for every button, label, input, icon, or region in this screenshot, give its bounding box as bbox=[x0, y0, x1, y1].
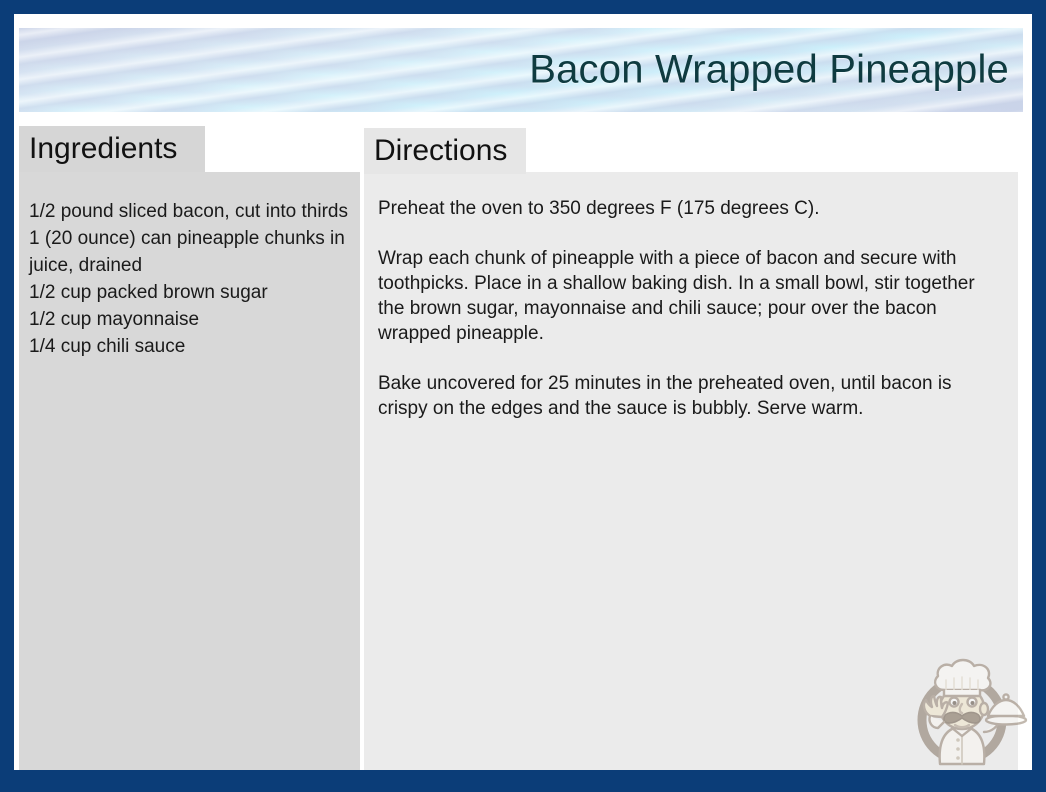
directions-heading: Directions bbox=[374, 134, 507, 168]
list-item: 1/4 cup chili sauce bbox=[29, 333, 349, 360]
recipe-slide: Bacon Wrapped Pineapple bbox=[0, 0, 1046, 792]
ingredients-list: 1/2 pound sliced bacon, cut into thirds … bbox=[29, 198, 349, 360]
ingredients-heading: Ingredients bbox=[29, 132, 177, 166]
slide-content-area: Bacon Wrapped Pineapple bbox=[14, 14, 1032, 770]
list-item: 1/2 cup mayonnaise bbox=[29, 306, 349, 333]
ingredients-panel: Ingredients 1/2 pound sliced bacon, cut … bbox=[19, 126, 360, 770]
ingredients-heading-bar: Ingredients bbox=[19, 126, 205, 172]
list-item: 1/2 pound sliced bacon, cut into thirds bbox=[29, 198, 349, 225]
page-title: Bacon Wrapped Pineapple bbox=[529, 48, 1009, 93]
directions-paragraph: Bake uncovered for 25 minutes in the pre… bbox=[378, 371, 1006, 421]
directions-heading-bar: Directions bbox=[364, 128, 526, 174]
directions-paragraph: Wrap each chunk of pineapple with a piec… bbox=[378, 246, 1006, 346]
directions-paragraph: Preheat the oven to 350 degrees F (175 d… bbox=[378, 196, 1006, 221]
list-item: 1/2 cup packed brown sugar bbox=[29, 279, 349, 306]
title-banner: Bacon Wrapped Pineapple bbox=[19, 28, 1023, 112]
list-item: 1 (20 ounce) can pineapple chunks in jui… bbox=[29, 225, 349, 279]
chef-mascot-logo bbox=[900, 646, 1028, 770]
directions-text: Preheat the oven to 350 degrees F (175 d… bbox=[378, 196, 1006, 421]
